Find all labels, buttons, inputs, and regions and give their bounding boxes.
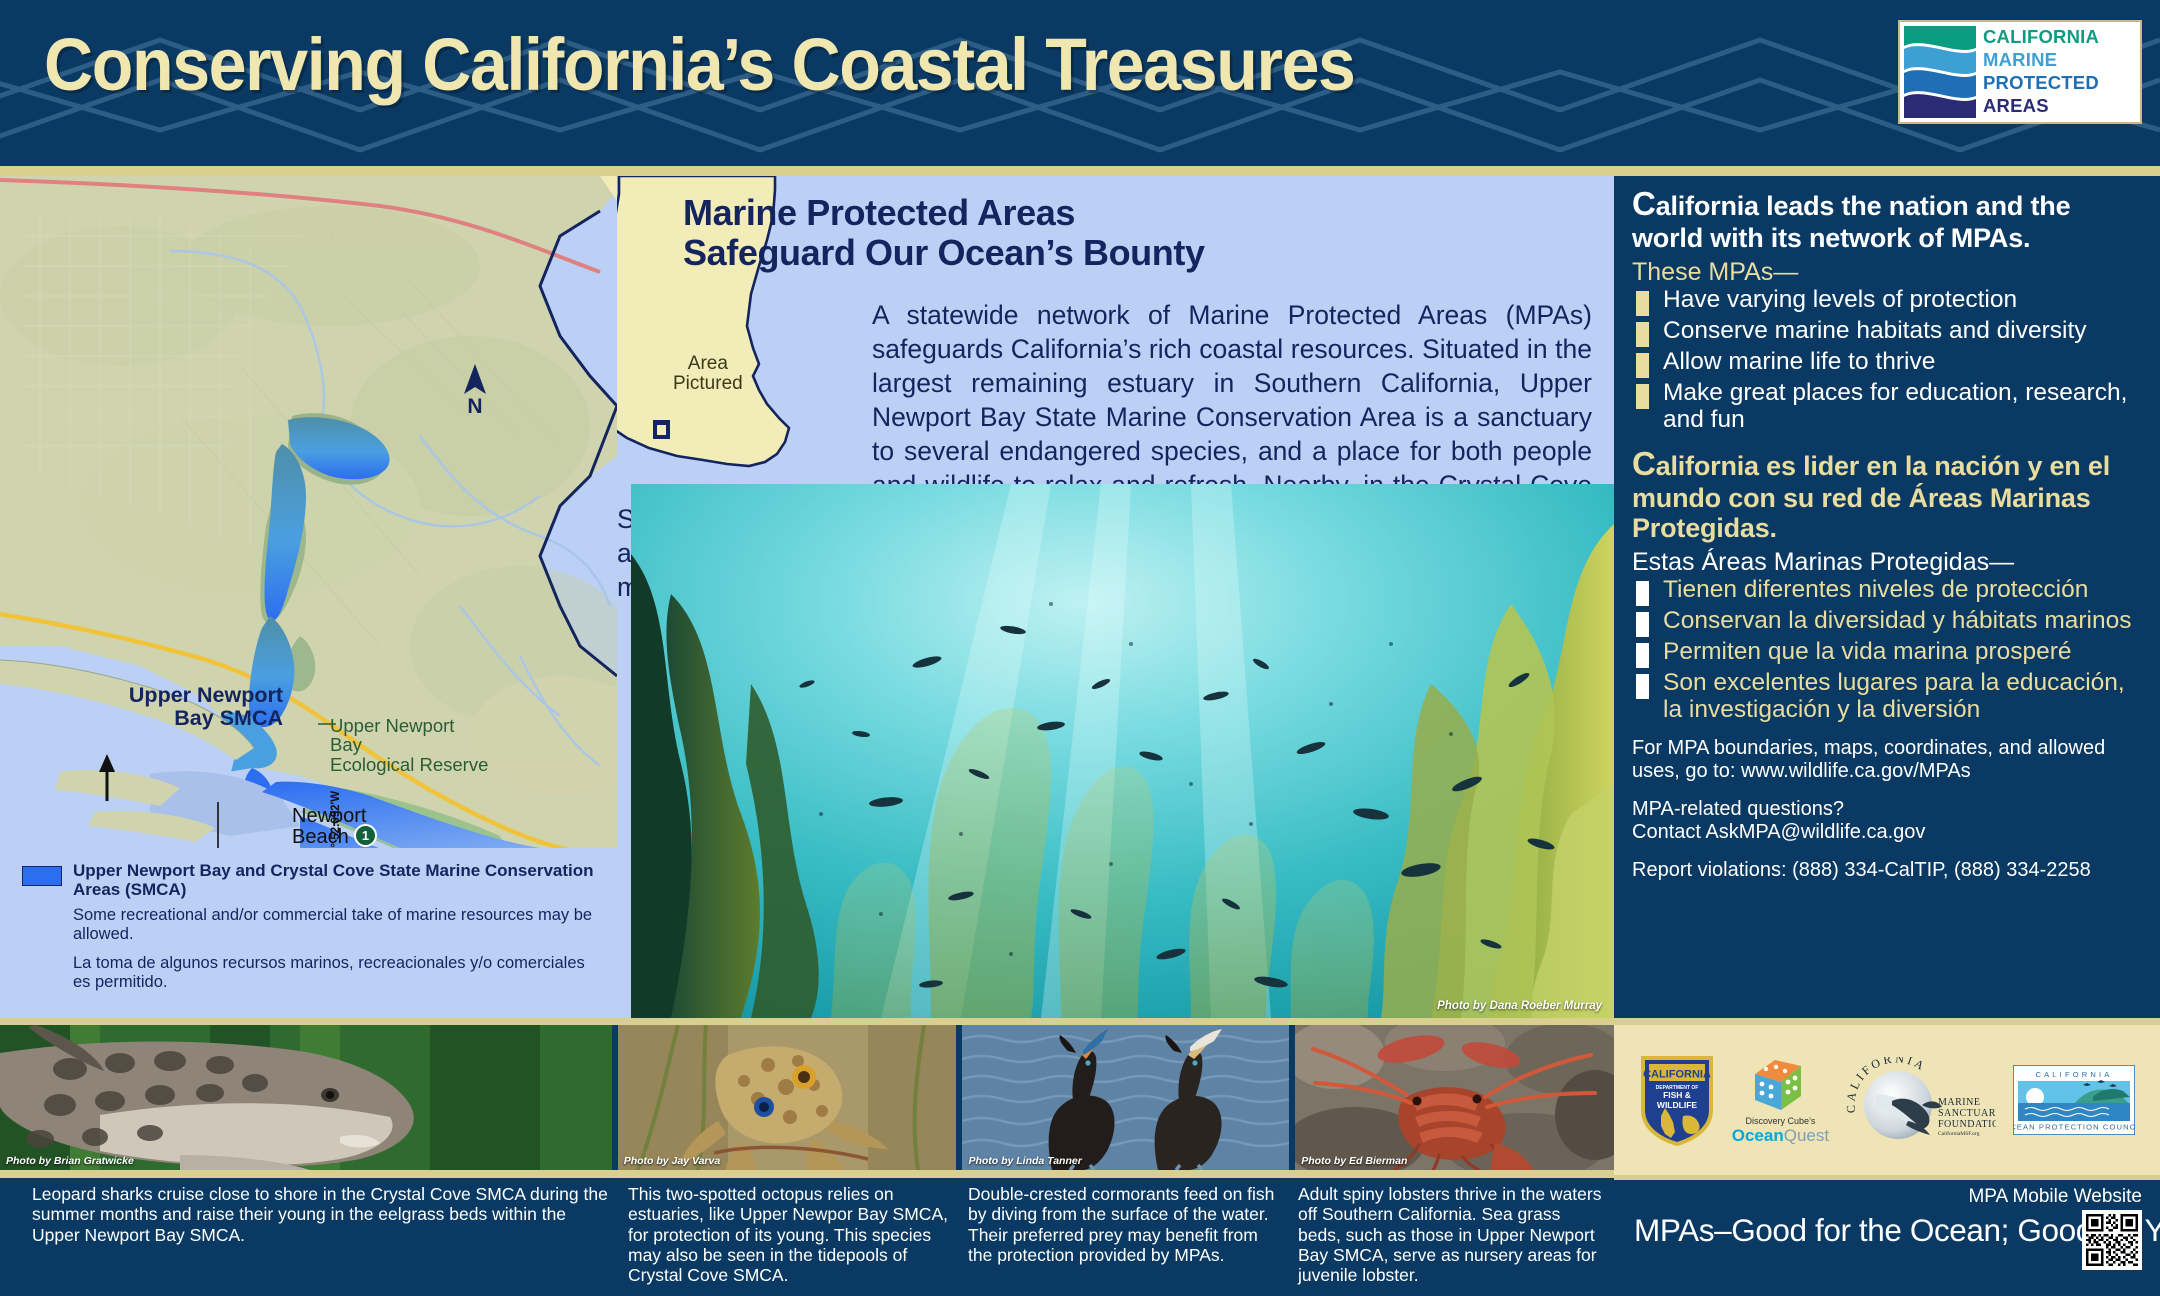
mpa-facts-sidebar: California leads the nation and the worl… [1614,176,2160,1025]
section-heading-line2: Safeguard Our Ocean’s Bounty [683,233,1205,273]
sidebar-bullet-list-english: Have varying levels of protection Conser… [1632,287,2142,434]
logo-line-protected: PROTECTED [1983,74,2136,93]
photo-strip-top-divider [0,1018,1614,1025]
photo-credit: Photo by Ed Bierman [1301,1155,1407,1167]
list-item: Son excelentes lugares para la educación… [1632,670,2142,724]
map-legend: Upper Newport Bay and Crystal Cove State… [0,848,617,1018]
list-item-label: Permiten que la vida marina prosperé [1663,639,2072,666]
legend-swatch-smca [22,866,62,886]
svg-text:OCEAN PROTECTION COUNCIL: OCEAN PROTECTION COUNCIL [2013,1123,2135,1132]
caption-top-divider [0,1170,1614,1178]
svg-text:CALIFORNIA: CALIFORNIA [2036,1070,2113,1079]
sidebar-info-questions: MPA-related questions? Contact AskMPA@wi… [1632,798,2142,844]
california-marine-protected-areas-logo: CALIFORNIA MARINE PROTECTED AREAS [1898,20,2142,124]
main-content-panel: Area Pictured Marine Protected Areas Saf… [617,176,1614,1018]
california-ocean-protection-council-logo: CALIFORNIA OCEAN PROTECTION COUNCIL [2013,1065,2135,1135]
svg-text:MARINE: MARINE [1938,1097,1980,1108]
location-map-panel: N Upper Newport Bay SMCA Upper Newport B… [0,176,617,1018]
sidebar-bullet-list-spanish: Tienen diferentes niveles de protección … [1632,577,2142,724]
list-item-label: Conserve marine habitats and diversity [1663,318,2087,345]
sidebar-heading-spanish: California es lider en la nación y en el… [1632,446,2142,543]
giant-kelp-forest-photo: Photo by Dana Roeber Murray [631,484,1614,1018]
sidebar-info-boundaries: For MPA boundaries, maps, coordinates, a… [1632,737,2142,783]
logo-line-marine: MARINE [1983,51,2136,70]
square-bullet-icon [1636,612,1649,637]
square-bullet-icon [1636,291,1649,316]
list-item: Tienen diferentes niveles de protección [1632,577,2142,606]
map-canvas: N Upper Newport Bay SMCA Upper Newport B… [0,176,617,848]
spiny-lobster-photo: Photo by Ed Bierman [1295,1025,1614,1170]
wave-stack-icon [1904,26,1976,118]
list-item: Allow marine life to thrive [1632,349,2142,378]
qr-code[interactable] [2082,1210,2142,1270]
square-bullet-icon [1636,384,1649,409]
logo-line-california: CALIFORNIA [1983,28,2136,47]
photo-caption-octopus: This two-spotted octopus relies on estua… [620,1178,960,1296]
header-banner: Conserving California’s Coastal Treasure… [0,0,2160,166]
square-bullet-icon [1636,643,1649,668]
kelp-photo-credit: Photo by Dana Roeber Murray [1437,1000,1602,1012]
discovery-cube-oceanquest-logo: Discovery Cube’s OceanQuest [1732,1056,1829,1144]
map-graphic [0,176,617,848]
oceanquest-wordmark-quest: Quest [1784,1126,1829,1145]
mpa-tagline-bar: MPA Mobile Website MPAs–Good for the Oce… [1614,1180,2160,1296]
list-item-label: Tienen diferentes niveles de protección [1663,577,2088,604]
mpa-mobile-website-label: MPA Mobile Website [1968,1186,2142,1208]
svg-text:FOUNDATION: FOUNDATION [1938,1119,1996,1130]
list-item-label: Have varying levels of protection [1663,287,2017,314]
square-bullet-icon [1636,581,1649,606]
legend-title: Upper Newport Bay and Crystal Cove State… [73,862,595,899]
photo-credit: Photo by Linda Tanner [968,1155,1081,1167]
list-item-label: Allow marine life to thrive [1663,349,1935,376]
california-marine-sanctuary-foundation-logo: CALIFORNIA MARINE SANCTUARY FOUNDATION C… [1846,1057,1996,1143]
square-bullet-icon [1636,674,1649,699]
oceanquest-wordmark-ocean: Ocean [1732,1126,1784,1145]
photo-caption-cormorants: Double-crested cormorants feed on fish b… [960,1178,1290,1296]
section-heading: Marine Protected Areas Safeguard Our Oce… [683,193,1205,274]
list-item: Conservan la diversidad y hábitats marin… [1632,608,2142,637]
list-item: Have varying levels of protection [1632,287,2142,316]
sidebar-heading-english: California leads the nation and the worl… [1632,186,2142,253]
list-item-label: Son excelentes lugares para la educación… [1663,670,2142,724]
sidebar-lead-spanish: Estas Áreas Marinas Protegidas— [1632,548,2142,576]
photo-credit: Photo by Jay Varva [624,1155,720,1167]
legend-body-spanish: La toma de algunos recursos marinos, rec… [73,954,595,991]
legend-body-english: Some recreational and/or commercial take… [73,906,595,943]
list-item-label: Conservan la diversidad y hábitats marin… [1663,608,2131,635]
list-item: Make great places for education, researc… [1632,380,2142,434]
photo-captions-row: Leopard sharks cruise close to shore in … [0,1178,1614,1296]
partner-logo-bar: CALIFORNIA DEPARTMENT OF FISH & WILDLIFE [1614,1025,2160,1175]
logo-line-areas: AREAS [1983,97,2136,116]
interpretive-sign: Conserving California’s Coastal Treasure… [0,0,2160,1296]
two-spotted-octopus-photo: Photo by Jay Varva [618,1025,957,1170]
svg-text:FISH &: FISH & [1663,1090,1691,1100]
north-arrow-icon: N [460,364,490,421]
header-divider [0,166,2160,176]
svg-text:WILDLIFE: WILDLIFE [1657,1100,1697,1110]
page-title: Conserving California’s Coastal Treasure… [44,22,1355,107]
svg-text:N: N [467,395,482,416]
highway-1-shield-icon: 1 [354,824,377,847]
leopard-shark-photo: Photo by Brian Gratwicke [0,1025,612,1170]
photo-credit: Photo by Brian Gratwicke [6,1155,134,1167]
sidebar-info-violations: Report violations: (888) 334-CalTIP, (88… [1632,859,2142,882]
species-photo-strip: Photo by Brian Gratwicke [0,1025,1614,1170]
double-crested-cormorants-photo: Photo by Linda Tanner [962,1025,1289,1170]
square-bullet-icon [1636,322,1649,347]
square-bullet-icon [1636,353,1649,378]
photo-caption-leopard-shark: Leopard sharks cruise close to shore in … [0,1178,620,1296]
list-item: Conserve marine habitats and diversity [1632,318,2142,347]
oceanquest-caption: Discovery Cube’s [1745,1116,1815,1126]
svg-text:CALIFORNIA: CALIFORNIA [1643,1069,1711,1081]
sidebar-lead-english: These MPAs— [1632,258,2142,286]
list-item-label: Make great places for education, researc… [1663,380,2142,434]
sidebar-bottom-divider [1614,1018,2160,1025]
list-item: Permiten que la vida marina prosperé [1632,639,2142,668]
svg-text:SANCTUARY: SANCTUARY [1938,1108,1996,1119]
svg-text:CaliforniaMSF.org: CaliforniaMSF.org [1938,1130,1980,1137]
california-department-of-fish-and-wildlife-logo: CALIFORNIA DEPARTMENT OF FISH & WILDLIFE [1639,1054,1715,1146]
photo-caption-lobster: Adult spiny lobsters thrive in the water… [1290,1178,1614,1296]
section-heading-line1: Marine Protected Areas [683,193,1205,233]
